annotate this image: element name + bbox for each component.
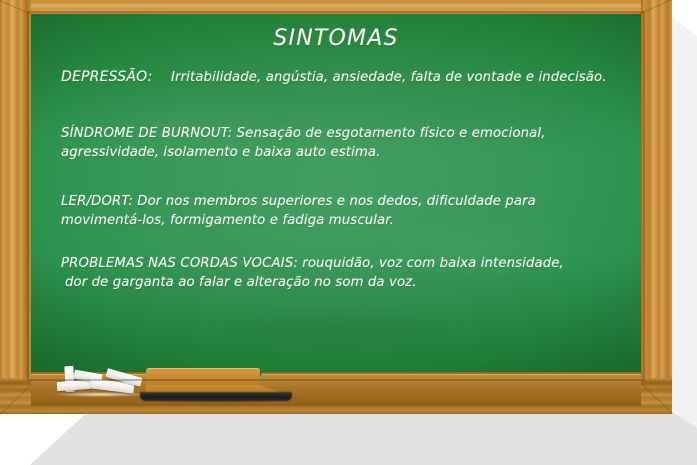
frame-right-stile: [641, 0, 672, 414]
entry-burnout: SÍNDROME DE BURNOUT: Sensação de esgotam…: [61, 124, 609, 162]
entry-cordas-vocais-term: PROBLEMAS NAS CORDAS VOCAIS:: [61, 256, 298, 271]
entry-depressao-term: DEPRESSÃO:: [61, 68, 171, 87]
entry-depressao: DEPRESSÃO: Irritabilidade, angústia, ans…: [61, 68, 609, 87]
entry-ler-dort-term: LER/DORT:: [61, 194, 133, 209]
entry-depressao-body: Irritabilidade, angústia, ansiedade, fal…: [171, 68, 609, 87]
chalkboard-screenshot: SINTOMAS DEPRESSÃO: Irritabilidade, angú…: [0, 0, 697, 465]
frame-top-rail: [0, 0, 672, 14]
entry-cordas-vocais-body: rouquidão, voz com baixa intensidade,: [302, 256, 564, 271]
chalkboard-surface: SINTOMAS DEPRESSÃO: Irritabilidade, angú…: [31, 14, 641, 378]
eraser-felt-pad: [140, 392, 292, 401]
entry-cordas-vocais-body-line2: dor de garganta ao falar e alteração no …: [61, 273, 609, 292]
board-title: SINTOMAS: [31, 26, 641, 51]
entry-ler-dort-body: Dor nos membros superiores e nos dedos, …: [61, 194, 536, 228]
entry-burnout-term: SÍNDROME DE BURNOUT:: [61, 126, 232, 141]
entry-cordas-vocais: PROBLEMAS NAS CORDAS VOCAIS: rouquidão, …: [61, 254, 609, 292]
entry-ler-dort: LER/DORT: Dor nos membros superiores e n…: [61, 192, 609, 230]
frame-left-stile: [0, 0, 31, 414]
chalk-dust: [52, 392, 148, 397]
